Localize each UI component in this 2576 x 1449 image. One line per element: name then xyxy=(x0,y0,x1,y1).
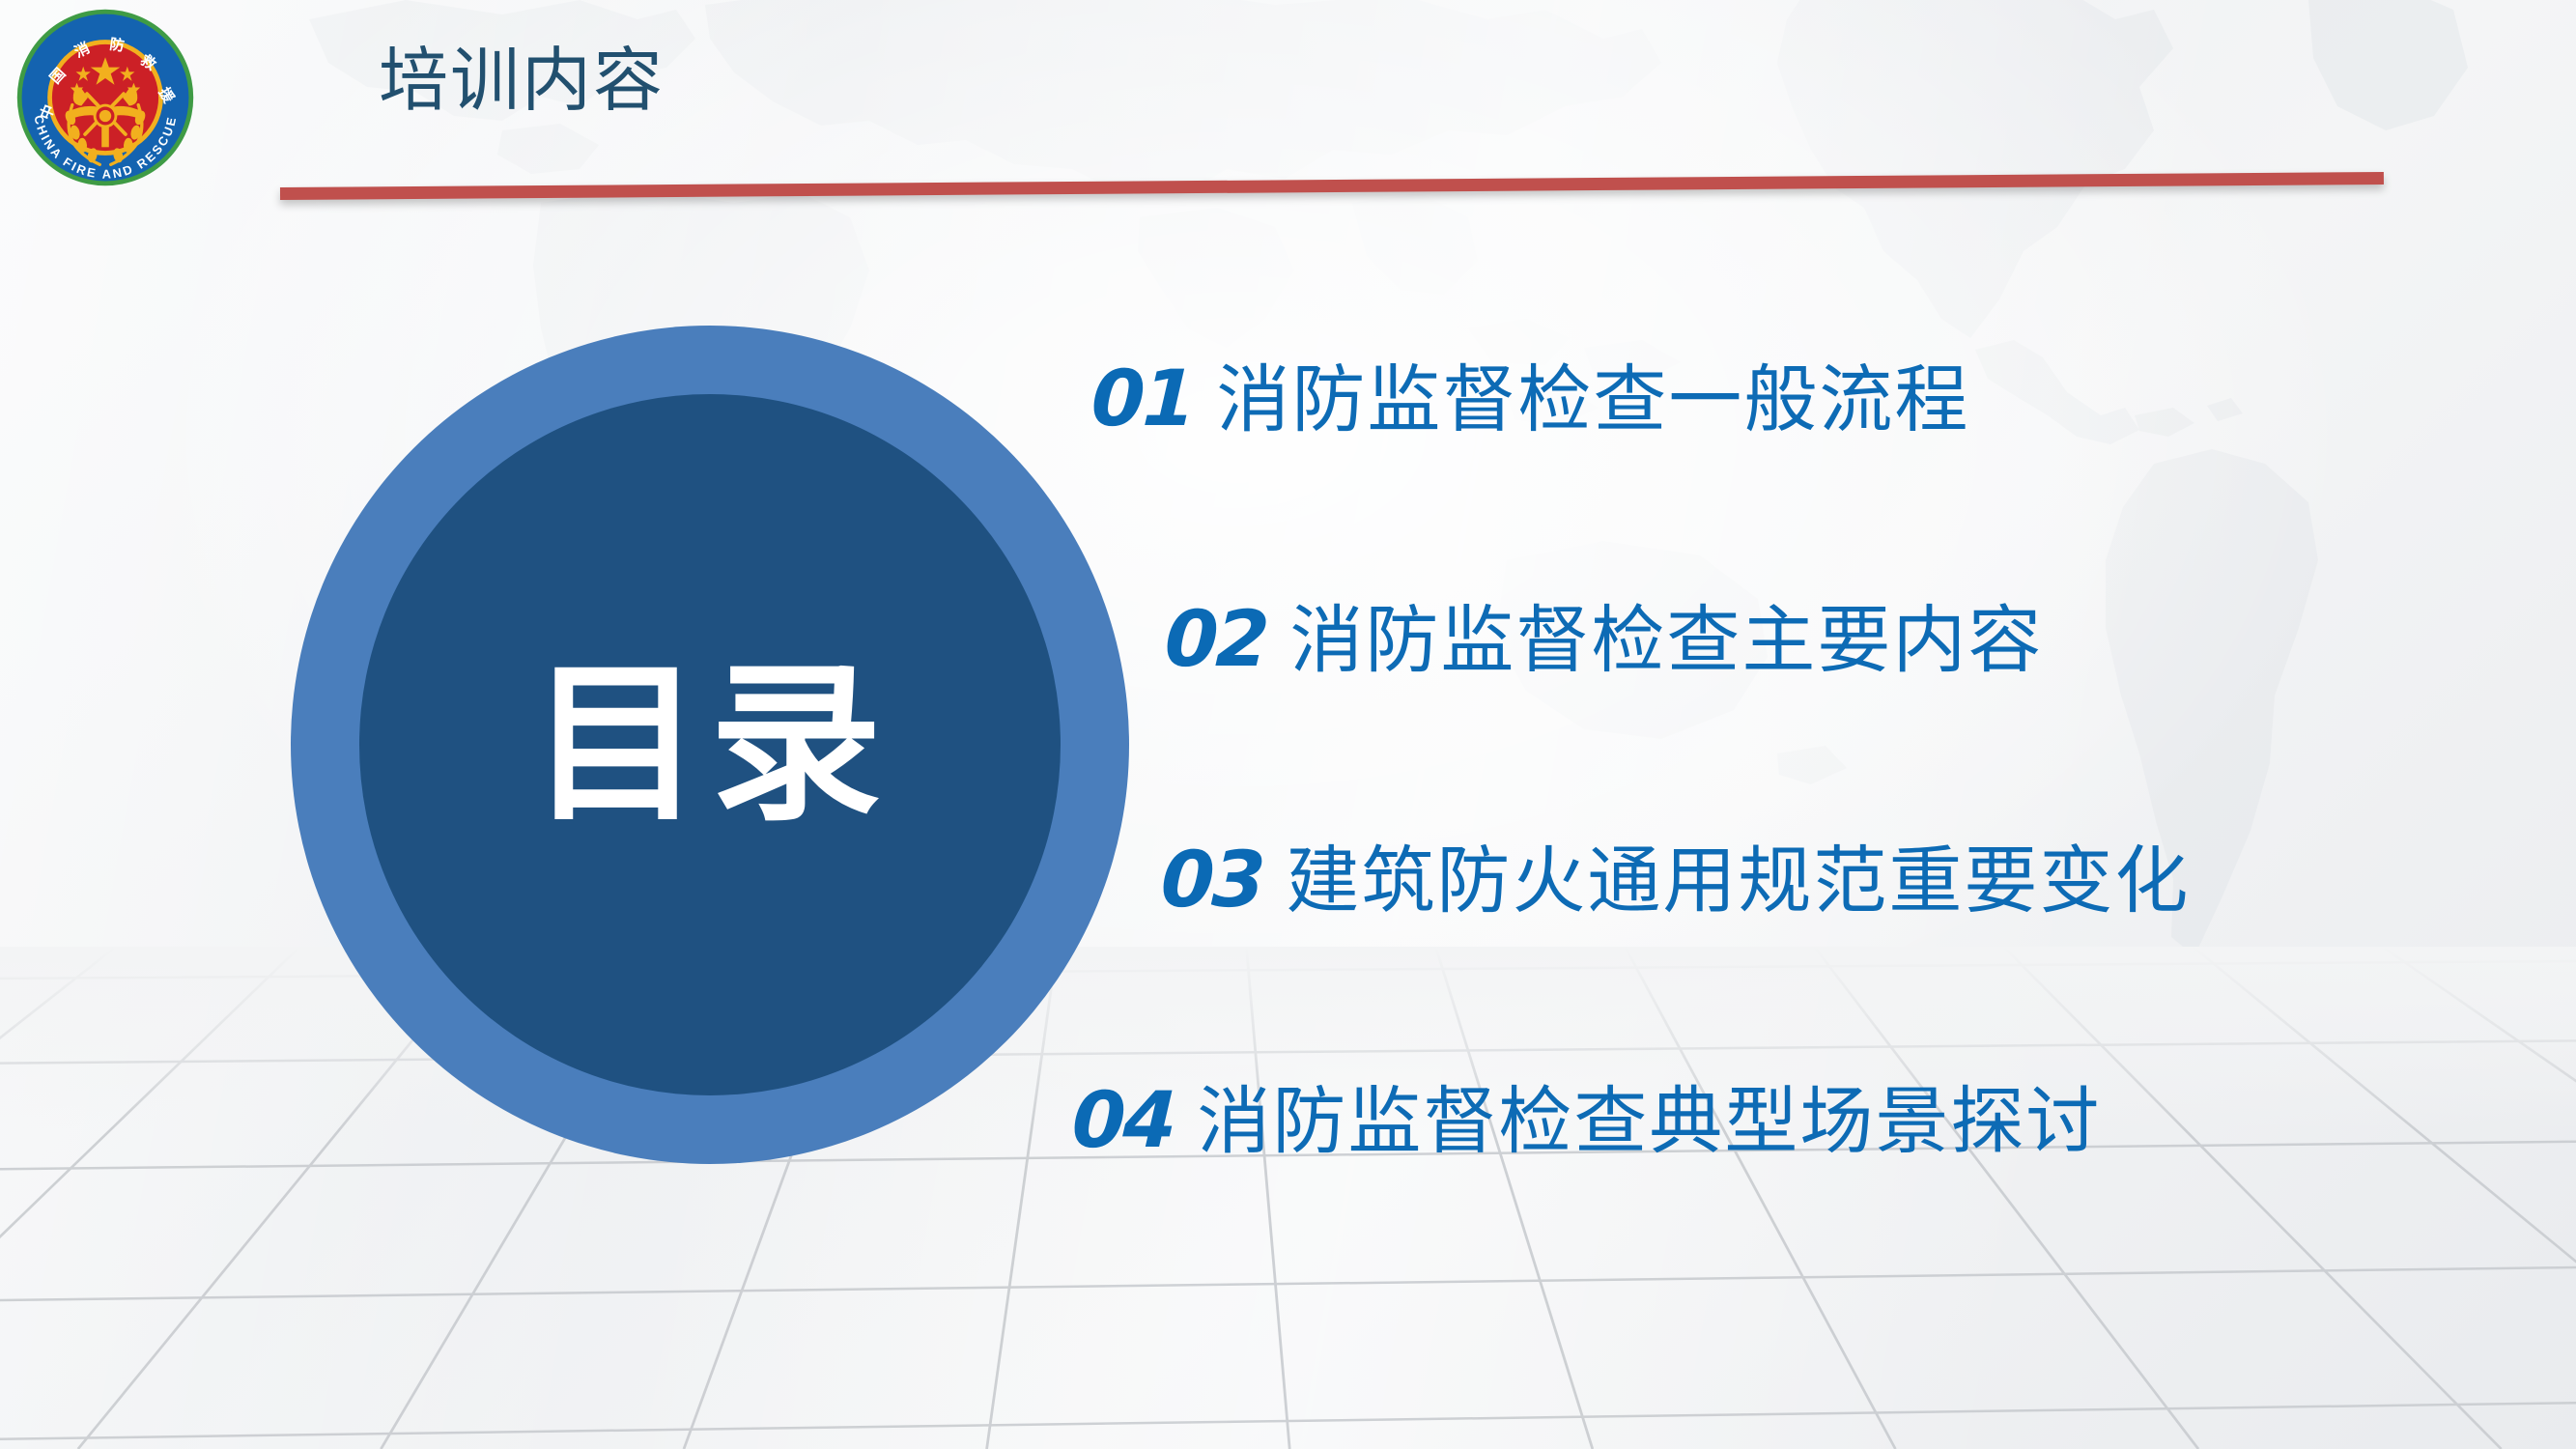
china-fire-and-rescue-logo-icon: 中 国 消 防 救 援 CHINA FIRE AND RESCUE xyxy=(14,6,197,189)
toc-item-number: 04 xyxy=(1070,1075,1175,1165)
toc-circle-badge: 目录 xyxy=(291,326,1129,1164)
svg-text:防: 防 xyxy=(108,36,126,55)
toc-item-03[interactable]: 03 建筑防火通用规范重要变化 xyxy=(1161,821,2502,945)
toc-circle-inner: 目录 xyxy=(359,394,1061,1095)
toc-item-number: 01 xyxy=(1090,354,1195,443)
toc-item-label: 消防监督检查典型场景探讨 xyxy=(1197,1062,2101,1168)
toc-item-01[interactable]: 01 消防监督检查一般流程 xyxy=(1091,340,2502,464)
toc-item-number: 02 xyxy=(1163,594,1268,684)
toc-item-label: 消防监督检查主要内容 xyxy=(1289,581,2043,687)
page-title: 培训内容 xyxy=(379,46,665,116)
toc-item-number: 03 xyxy=(1159,835,1264,924)
toc-list: 01 消防监督检查一般流程 02 消防监督检查主要内容 03 建筑防火通用规范重… xyxy=(1091,340,2502,1185)
toc-item-04[interactable]: 04 消防监督检查典型场景探讨 xyxy=(1072,1062,2502,1185)
toc-item-label: 消防监督检查一般流程 xyxy=(1216,340,1969,446)
toc-item-02[interactable]: 02 消防监督检查主要内容 xyxy=(1165,581,2502,704)
presentation-slide: 中 国 消 防 救 援 CHINA FIRE AND RESCUE xyxy=(0,0,2576,1449)
title-divider-line xyxy=(280,172,2384,200)
toc-item-label: 建筑防火通用规范重要变化 xyxy=(1286,821,2190,927)
toc-badge-label: 目录 xyxy=(530,659,890,831)
title-divider xyxy=(280,176,2384,211)
